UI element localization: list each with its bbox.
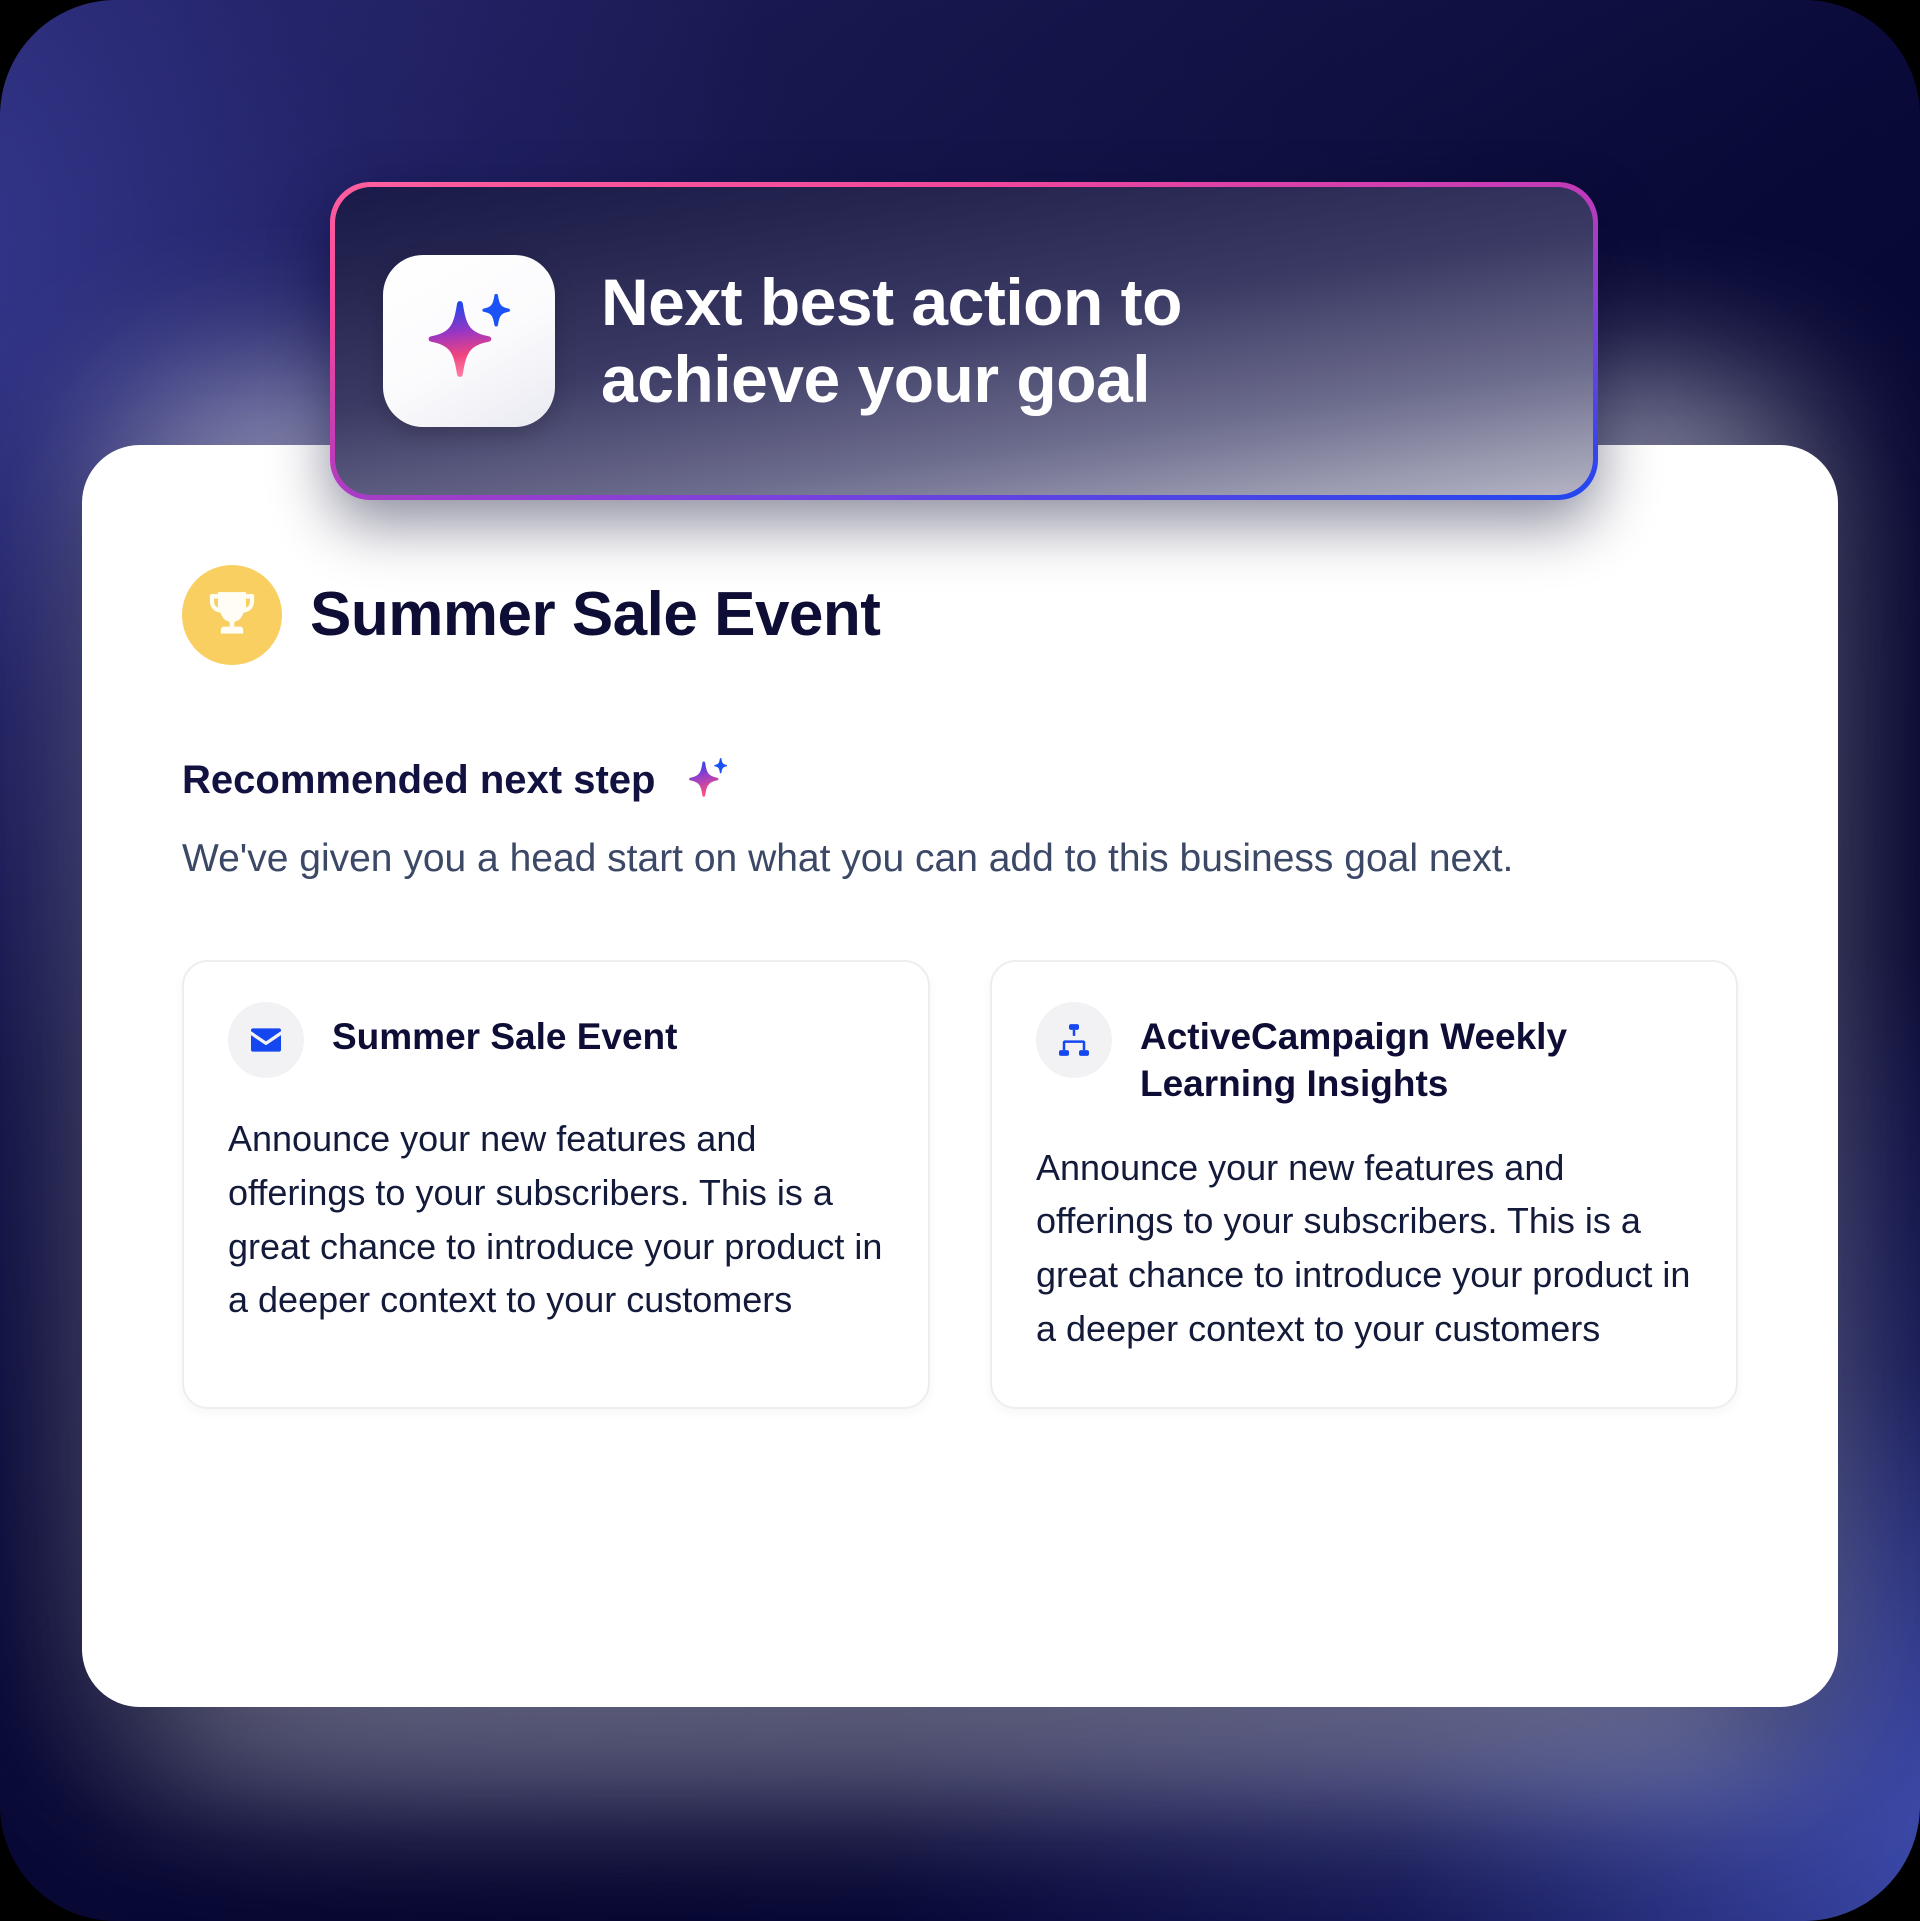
ai-sparkle-icon bbox=[681, 753, 735, 807]
recommended-next-step-label: Recommended next step bbox=[182, 760, 655, 800]
recommended-next-step-header: Recommended next step bbox=[182, 753, 1738, 807]
next-best-action-title: Next best action to achieve your goal bbox=[601, 264, 1182, 417]
next-best-action-title-line1: Next best action to bbox=[601, 264, 1182, 341]
suggestion-card-weekly-learning-insights[interactable]: ActiveCampaign Weekly Learning Insights … bbox=[990, 960, 1738, 1409]
next-best-action-banner: Next best action to achieve your goal bbox=[330, 182, 1598, 500]
goal-header: Summer Sale Event bbox=[182, 565, 1738, 665]
envelope-icon bbox=[228, 1002, 304, 1078]
recommended-next-step-description: We've given you a head start on what you… bbox=[182, 829, 1682, 888]
suggestion-card-summer-sale-event[interactable]: Summer Sale Event Announce your new feat… bbox=[182, 960, 930, 1409]
recommendation-card: Summer Sale Event Recommended next step bbox=[82, 445, 1838, 1707]
suggestion-card-header: ActiveCampaign Weekly Learning Insights bbox=[1036, 1002, 1692, 1107]
suggestion-card-body: Announce your new features and offerings… bbox=[228, 1112, 884, 1327]
card-content: Summer Sale Event Recommended next step bbox=[182, 565, 1738, 1409]
suggestion-card-title: ActiveCampaign Weekly Learning Insights bbox=[1140, 1002, 1692, 1107]
page-title: Summer Sale Event bbox=[310, 584, 880, 646]
next-best-action-banner-inner: Next best action to achieve your goal bbox=[335, 187, 1593, 495]
suggestion-card-header: Summer Sale Event bbox=[228, 1002, 884, 1078]
next-best-action-title-line2: achieve your goal bbox=[601, 341, 1182, 418]
suggestion-card-body: Announce your new features and offerings… bbox=[1036, 1141, 1692, 1356]
screenshot-root: Summer Sale Event Recommended next step bbox=[0, 0, 1920, 1921]
suggestion-card-list: Summer Sale Event Announce your new feat… bbox=[182, 960, 1738, 1409]
trophy-icon bbox=[182, 565, 282, 665]
ai-sparkle-icon bbox=[383, 255, 555, 427]
suggestion-card-title: Summer Sale Event bbox=[332, 1002, 677, 1060]
sitemap-icon bbox=[1036, 1002, 1112, 1078]
